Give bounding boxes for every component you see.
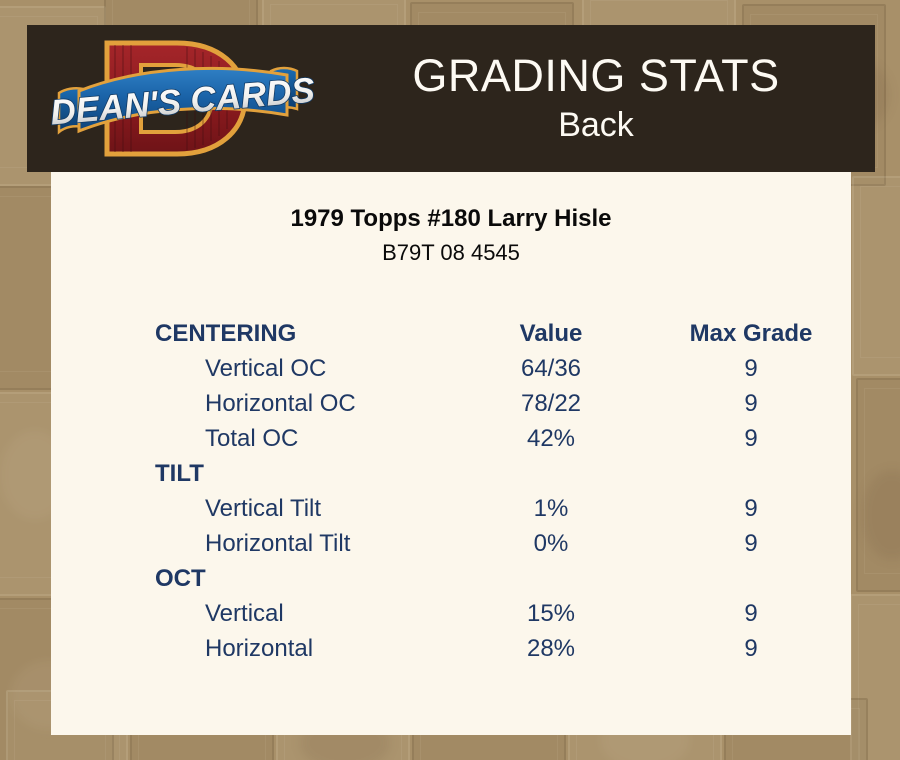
deans-cards-logo[interactable]: DEAN'S CARDS xyxy=(49,31,314,166)
section-header-row: TILT xyxy=(51,456,851,491)
value-column-header: Value xyxy=(451,316,651,351)
section-header-label: CENTERING xyxy=(51,316,451,351)
stat-max-grade: 9 xyxy=(651,526,851,561)
stat-label: Horizontal xyxy=(51,631,451,666)
max-grade-column-header xyxy=(651,561,851,596)
stat-max-grade: 9 xyxy=(651,631,851,666)
stat-value: 64/36 xyxy=(451,351,651,386)
stat-label: Horizontal OC xyxy=(51,386,451,421)
stat-max-grade: 9 xyxy=(651,596,851,631)
stat-value: 28% xyxy=(451,631,651,666)
stat-label: Vertical Tilt xyxy=(51,491,451,526)
stat-max-grade: 9 xyxy=(651,421,851,456)
page-subtitle: Back xyxy=(327,103,865,147)
stat-max-grade: 9 xyxy=(651,351,851,386)
stat-value: 42% xyxy=(451,421,651,456)
stat-label: Vertical xyxy=(51,596,451,631)
stat-value: 1% xyxy=(451,491,651,526)
section-header-row: OCT xyxy=(51,561,851,596)
table-row: Horizontal OC78/229 xyxy=(51,386,851,421)
table-row: Horizontal Tilt0%9 xyxy=(51,526,851,561)
header-title-block: GRADING STATS Back xyxy=(327,49,865,147)
max-grade-column-header: Max Grade xyxy=(651,316,851,351)
page-header-bar: DEAN'S CARDS GRADING STATS Back xyxy=(27,25,875,172)
stat-label: Vertical OC xyxy=(51,351,451,386)
page-title: GRADING STATS xyxy=(327,49,865,103)
table-row: Vertical15%9 xyxy=(51,596,851,631)
max-grade-column-header xyxy=(651,456,851,491)
content-panel: 1979 Topps #180 Larry Hisle B79T 08 4545… xyxy=(51,172,851,735)
grading-stats-page: DEAN'S CARDS GRADING STATS Back 1979 Top… xyxy=(0,0,900,760)
section-header-row: CENTERINGValueMax Grade xyxy=(51,316,851,351)
stat-value: 0% xyxy=(451,526,651,561)
stat-value: 15% xyxy=(451,596,651,631)
stat-value: 78/22 xyxy=(451,386,651,421)
value-column-header xyxy=(451,561,651,596)
section-header-label: OCT xyxy=(51,561,451,596)
card-title: 1979 Topps #180 Larry Hisle xyxy=(51,172,851,234)
stat-label: Total OC xyxy=(51,421,451,456)
table-row: Horizontal28%9 xyxy=(51,631,851,666)
value-column-header xyxy=(451,456,651,491)
stat-max-grade: 9 xyxy=(651,491,851,526)
stat-max-grade: 9 xyxy=(651,386,851,421)
table-row: Vertical OC64/369 xyxy=(51,351,851,386)
table-row: Total OC42%9 xyxy=(51,421,851,456)
grading-stats-table: CENTERINGValueMax GradeVertical OC64/369… xyxy=(51,316,851,666)
table-row: Vertical Tilt1%9 xyxy=(51,491,851,526)
stat-label: Horizontal Tilt xyxy=(51,526,451,561)
section-header-label: TILT xyxy=(51,456,451,491)
card-code: B79T 08 4545 xyxy=(51,234,851,268)
